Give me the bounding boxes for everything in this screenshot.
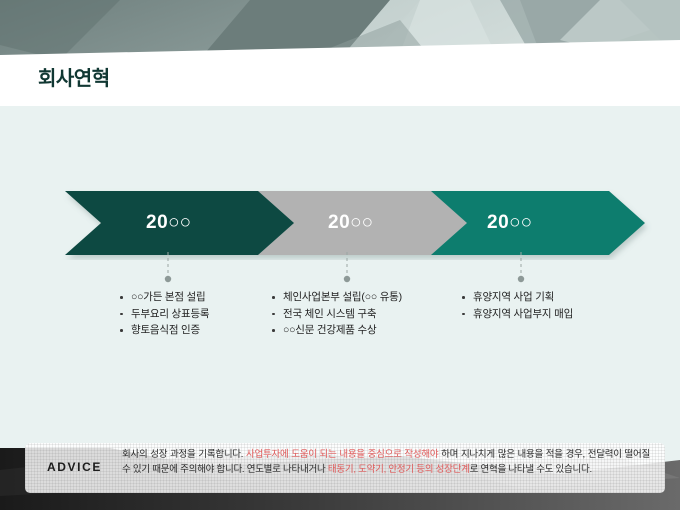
chevron-year-prefix-3: 20 [487, 212, 509, 233]
advice-plain: 회사의 성장 과정을 기록합니다. [122, 449, 246, 460]
chevron-year-label-2: 20○○ [328, 212, 373, 234]
header-background [0, 0, 680, 106]
advice-box: ADVICE 회사의 성장 과정을 기록합니다. 사업투자에 도움이 되는 내용… [25, 443, 665, 493]
bullet-list-1: ○○가든 본점 설립 두부요리 상표등록 향토음식점 인증 [118, 289, 293, 339]
advice-label: ADVICE [47, 460, 102, 474]
list-item: ○○가든 본점 설립 [118, 289, 293, 306]
connector-dot-1 [165, 276, 171, 282]
list-item: ○○신문 건강제품 수상 [270, 322, 470, 339]
chevron-year-blank-3: ○○ [509, 212, 532, 233]
list-item: 체인사업본부 설립(○○ 유통) [270, 289, 470, 306]
connector-dot-2 [344, 276, 350, 282]
advice-highlight: 태동기, 도약기, 안정기 등의 성장단계 [328, 464, 470, 475]
list-item: 휴양지역 사업부지 매입 [460, 306, 650, 323]
list-item: 전국 체인 시스템 구축 [270, 306, 470, 323]
list-item: 두부요리 상표등록 [118, 306, 293, 323]
timeline-items-column-1: ○○가든 본점 설립 두부요리 상표등록 향토음식점 인증 [118, 289, 293, 339]
chevron-year-label-1: 20○○ [146, 212, 191, 234]
list-item: 휴양지역 사업 기획 [460, 289, 650, 306]
advice-highlight: 사업투자에 도움이 되는 내용을 중심으로 작성해야 [246, 449, 438, 460]
list-item: 향토음식점 인증 [118, 322, 293, 339]
connector-group [0, 250, 680, 290]
chevron-year-blank-1: ○○ [168, 212, 191, 233]
bullet-list-3: 휴양지역 사업 기획 휴양지역 사업부지 매입 [460, 289, 650, 322]
advice-plain: 로 연혁을 나타낼 수도 있습니다. [470, 464, 592, 475]
bullet-list-2: 체인사업본부 설립(○○ 유통) 전국 체인 시스템 구축 ○○신문 건강제품 … [270, 289, 470, 339]
slide-root: 회사연혁 20○○ 20○○ 20○○ [0, 0, 680, 510]
connector-lines [0, 250, 680, 290]
chevron-year-prefix-2: 20 [328, 212, 350, 233]
advice-text: 회사의 성장 과정을 기록합니다. 사업투자에 도움이 되는 내용을 중심으로 … [122, 447, 650, 477]
timeline-items-column-2: 체인사업본부 설립(○○ 유통) 전국 체인 시스템 구축 ○○신문 건강제품 … [270, 289, 470, 339]
page-title: 회사연혁 [38, 69, 110, 89]
connector-dot-3 [518, 276, 524, 282]
chevron-year-label-3: 20○○ [487, 212, 532, 234]
chevron-year-blank-2: ○○ [350, 212, 373, 233]
chevron-year-prefix-1: 20 [146, 212, 168, 233]
timeline-items-column-3: 휴양지역 사업 기획 휴양지역 사업부지 매입 [460, 289, 650, 322]
header-polygon-art [0, 0, 680, 106]
